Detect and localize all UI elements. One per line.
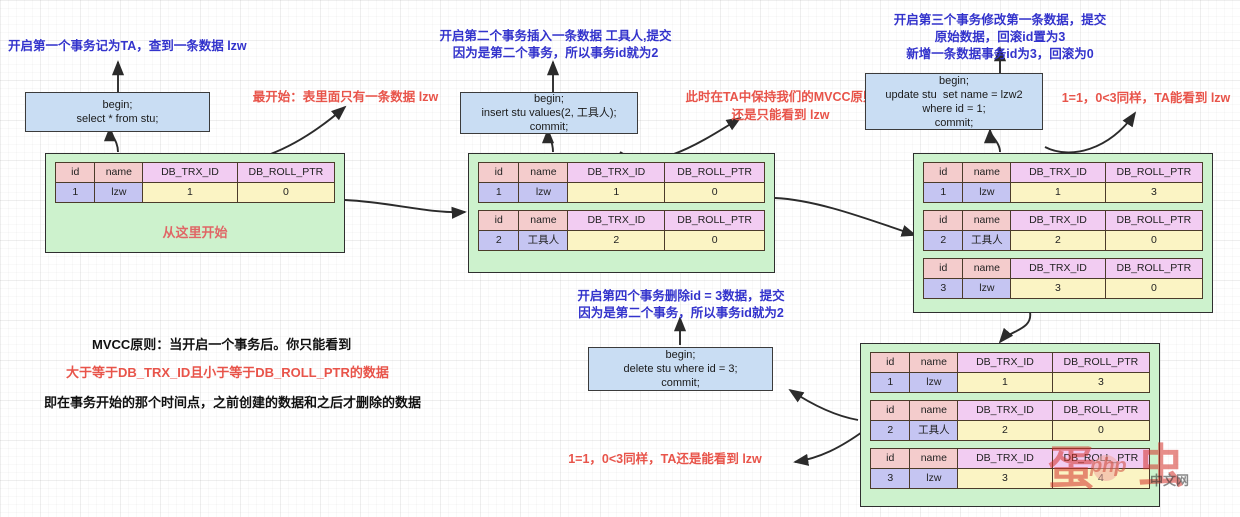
cell-name: lzw <box>963 183 1011 203</box>
note-initial-state: 最开始：表里面只有一条数据 lzw <box>238 88 453 106</box>
sql-line: select * from stu; <box>77 112 159 126</box>
table-row: id name DB_TRX_ID DB_ROLL_PTR <box>479 163 765 183</box>
sql-line: commit; <box>661 376 700 390</box>
note-transaction-4: 开启第四个事务删除id = 3数据，提交 因为是第二个事务，所以事务id就为2 <box>565 288 797 322</box>
table-state-3: id name DB_TRX_ID DB_ROLL_PTR 1 lzw 1 3 … <box>913 153 1213 313</box>
cell-name: 工具人 <box>910 421 958 441</box>
cell-ptr: 0 <box>1052 421 1149 441</box>
diagram-canvas: 开启第一个事务记为TA，查到一条数据 lzw begin; select * f… <box>0 0 1240 517</box>
cell-name: lzw <box>963 279 1011 299</box>
record-table: id name DB_TRX_ID DB_ROLL_PTR 2 工具人 2 0 <box>478 210 765 251</box>
sql-box-transaction-4[interactable]: begin; delete stu where id = 3; commit; <box>588 347 773 391</box>
header-id: id <box>871 353 910 373</box>
table-row: id name DB_TRX_ID DB_ROLL_PTR <box>871 401 1150 421</box>
header-trx: DB_TRX_ID <box>143 163 238 183</box>
sql-line: begin; <box>103 98 133 112</box>
note-mvcc-visibility-2: 此时在TA中保持我们的MVCC原则 还是只能看到 lzw <box>668 88 893 124</box>
cell-ptr: 4 <box>1052 469 1149 489</box>
sql-box-transaction-3[interactable]: begin; update stu set name = lzw2 where … <box>865 73 1043 130</box>
arrow-table4-to-sql4 <box>790 390 858 420</box>
arrow-table3-to-table4 <box>1000 312 1030 342</box>
sql-line: where id = 1; <box>922 102 985 116</box>
cell-trx: 2 <box>958 421 1053 441</box>
table-row: id name DB_TRX_ID DB_ROLL_PTR <box>56 163 335 183</box>
note-transaction-2: 开启第二个事务插入一条数据 工具人,提交 因为是第二个事务，所以事务id就为2 <box>438 28 673 62</box>
header-ptr: DB_ROLL_PTR <box>665 163 765 183</box>
record-table: id name DB_TRX_ID DB_ROLL_PTR 2 工具人 2 0 <box>870 400 1150 441</box>
table-row: 1 lzw 1 0 <box>479 183 765 203</box>
header-ptr: DB_ROLL_PTR <box>1105 259 1202 279</box>
cell-ptr: 0 <box>665 231 765 251</box>
header-trx: DB_TRX_ID <box>1011 211 1106 231</box>
note-transaction-1: 开启第一个事务记为TA，查到一条数据 lzw <box>8 38 238 55</box>
arrow-table4-to-note-bottom <box>795 430 865 462</box>
table-state-2: id name DB_TRX_ID DB_ROLL_PTR 1 lzw 1 0 … <box>468 153 775 273</box>
record-table: id name DB_TRX_ID DB_ROLL_PTR 1 lzw 1 0 <box>55 162 335 203</box>
cell-ptr: 3 <box>1105 183 1202 203</box>
cell-name: lzw <box>910 469 958 489</box>
header-name: name <box>963 163 1011 183</box>
header-id: id <box>871 401 910 421</box>
cell-id: 3 <box>924 279 963 299</box>
sql-line: commit; <box>530 120 569 134</box>
arrow-table1-to-table2 <box>345 200 465 212</box>
table-row: id name DB_TRX_ID DB_ROLL_PTR <box>924 163 1203 183</box>
table-state-4: id name DB_TRX_ID DB_ROLL_PTR 1 lzw 1 3 … <box>860 343 1160 507</box>
sql-box-transaction-1[interactable]: begin; select * from stu; <box>25 92 210 132</box>
sql-line: begin; <box>666 348 696 362</box>
record-table: id name DB_TRX_ID DB_ROLL_PTR 1 lzw 1 3 <box>870 352 1150 393</box>
cell-trx: 3 <box>1011 279 1106 299</box>
table-row: id name DB_TRX_ID DB_ROLL_PTR <box>479 211 765 231</box>
header-ptr: DB_ROLL_PTR <box>1052 353 1149 373</box>
header-id: id <box>56 163 95 183</box>
header-trx: DB_TRX_ID <box>568 211 665 231</box>
cell-id: 1 <box>56 183 95 203</box>
cell-trx: 1 <box>1011 183 1106 203</box>
header-name: name <box>910 353 958 373</box>
cell-trx: 1 <box>568 183 665 203</box>
cell-name: 工具人 <box>519 231 568 251</box>
header-trx: DB_TRX_ID <box>1011 163 1106 183</box>
table-row: id name DB_TRX_ID DB_ROLL_PTR <box>924 259 1203 279</box>
cell-ptr: 0 <box>1105 231 1202 251</box>
header-trx: DB_TRX_ID <box>958 449 1053 469</box>
arrow-table3-to-note-right <box>1045 113 1135 152</box>
sql-box-transaction-2[interactable]: begin; insert stu values(2, 工具人); commit… <box>460 92 638 134</box>
arrow-table2-to-table3 <box>775 198 915 235</box>
cell-id: 1 <box>479 183 519 203</box>
cell-name: lzw <box>95 183 143 203</box>
cell-name: lzw <box>519 183 568 203</box>
header-ptr: DB_ROLL_PTR <box>1105 163 1202 183</box>
cell-trx: 1 <box>143 183 238 203</box>
table-row: 1 lzw 1 3 <box>924 183 1203 203</box>
header-name: name <box>910 401 958 421</box>
cell-trx: 2 <box>568 231 665 251</box>
table-row: 2 工具人 2 0 <box>479 231 765 251</box>
cell-trx: 3 <box>958 469 1053 489</box>
cell-id: 1 <box>871 373 910 393</box>
table-row: 1 lzw 1 0 <box>56 183 335 203</box>
note-mvcc-visibility-3: 1=1，0<3同样，TA能看到 lzw <box>1052 89 1240 107</box>
table-row: id name DB_TRX_ID DB_ROLL_PTR <box>871 353 1150 373</box>
header-id: id <box>924 259 963 279</box>
cell-ptr: 3 <box>1052 373 1149 393</box>
header-id: id <box>924 211 963 231</box>
header-name: name <box>910 449 958 469</box>
start-here-label: 从这里开始 <box>55 210 335 241</box>
mvcc-principle-line-2: 大于等于DB_TRX_ID且小于等于DB_ROLL_PTR的数据 <box>66 358 389 388</box>
record-table: id name DB_TRX_ID DB_ROLL_PTR 3 lzw 3 0 <box>923 258 1203 299</box>
cell-name: lzw <box>910 373 958 393</box>
cell-id: 2 <box>871 421 910 441</box>
header-id: id <box>924 163 963 183</box>
table-row: 2 工具人 2 0 <box>924 231 1203 251</box>
header-id: id <box>479 163 519 183</box>
header-ptr: DB_ROLL_PTR <box>1105 211 1202 231</box>
header-name: name <box>519 163 568 183</box>
header-ptr: DB_ROLL_PTR <box>1052 401 1149 421</box>
header-ptr: DB_ROLL_PTR <box>237 163 334 183</box>
table-row: 3 lzw 3 0 <box>924 279 1203 299</box>
cell-id: 1 <box>924 183 963 203</box>
mvcc-principle-line-3: 即在事务开始的那个时间点，之前创建的数据和之后才删除的数据 <box>44 388 421 418</box>
note-mvcc-visibility-4: 1=1，0<3同样，TA还是能看到 lzw <box>530 450 800 468</box>
header-ptr: DB_ROLL_PTR <box>1052 449 1149 469</box>
header-name: name <box>95 163 143 183</box>
record-table: id name DB_TRX_ID DB_ROLL_PTR 1 lzw 1 3 <box>923 162 1203 203</box>
cell-trx: 1 <box>958 373 1053 393</box>
note-transaction-3: 开启第三个事务修改第一条数据，提交 原始数据，回滚id置为3 新增一条数据事务i… <box>855 12 1145 63</box>
table-row: 1 lzw 1 3 <box>871 373 1150 393</box>
cell-id: 3 <box>871 469 910 489</box>
header-trx: DB_TRX_ID <box>958 401 1053 421</box>
table-row: 3 lzw 3 4 <box>871 469 1150 489</box>
arrow-table3-to-sql3 <box>990 130 1000 152</box>
header-trx: DB_TRX_ID <box>1011 259 1106 279</box>
record-table: id name DB_TRX_ID DB_ROLL_PTR 3 lzw 3 4 <box>870 448 1150 489</box>
table-state-1: id name DB_TRX_ID DB_ROLL_PTR 1 lzw 1 0 … <box>45 153 345 253</box>
cell-id: 2 <box>479 231 519 251</box>
sql-line: insert stu values(2, 工具人); <box>481 106 616 120</box>
header-ptr: DB_ROLL_PTR <box>665 211 765 231</box>
header-trx: DB_TRX_ID <box>568 163 665 183</box>
header-trx: DB_TRX_ID <box>958 353 1053 373</box>
mvcc-principle-line-1: MVCC原则：当开启一个事务后。你只能看到 <box>92 330 351 360</box>
sql-line: begin; <box>534 92 564 106</box>
header-id: id <box>479 211 519 231</box>
cell-name: 工具人 <box>963 231 1011 251</box>
cell-ptr: 0 <box>237 183 334 203</box>
header-name: name <box>963 259 1011 279</box>
header-name: name <box>519 211 568 231</box>
table-row: id name DB_TRX_ID DB_ROLL_PTR <box>924 211 1203 231</box>
sql-line: commit; <box>935 116 974 130</box>
table-row: 2 工具人 2 0 <box>871 421 1150 441</box>
cell-ptr: 0 <box>665 183 765 203</box>
cell-ptr: 0 <box>1105 279 1202 299</box>
cell-trx: 2 <box>1011 231 1106 251</box>
record-table: id name DB_TRX_ID DB_ROLL_PTR 2 工具人 2 0 <box>923 210 1203 251</box>
header-name: name <box>963 211 1011 231</box>
cell-id: 2 <box>924 231 963 251</box>
sql-line: delete stu where id = 3; <box>623 362 737 376</box>
sql-line: begin; <box>939 74 969 88</box>
record-table: id name DB_TRX_ID DB_ROLL_PTR 1 lzw 1 0 <box>478 162 765 203</box>
header-id: id <box>871 449 910 469</box>
sql-line: update stu set name = lzw2 <box>885 88 1022 102</box>
table-row: id name DB_TRX_ID DB_ROLL_PTR <box>871 449 1150 469</box>
